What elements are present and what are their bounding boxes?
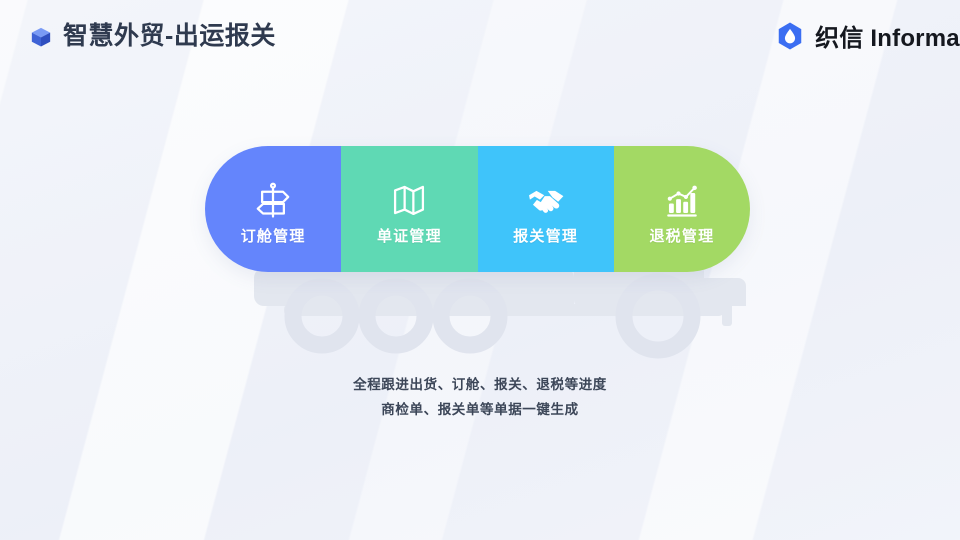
cube-icon	[30, 26, 52, 48]
signpost-icon	[252, 180, 294, 220]
card-label: 报关管理	[513, 229, 578, 244]
caption-line-1: 全程跟进出货、订舱、报关、退税等进度	[0, 372, 960, 397]
caption-line-2: 商检单、报关单等单据一键生成	[0, 397, 960, 422]
card-label: 退税管理	[649, 229, 714, 244]
handshake-icon	[525, 180, 567, 220]
brand-group: 织信 Informat	[775, 18, 960, 53]
hexagon-drop-logo-icon	[775, 21, 805, 51]
page-title: 智慧外贸-出运报关	[63, 24, 276, 49]
card-label: 订舱管理	[241, 229, 306, 244]
card-tax-refund-management[interactable]: 退税管理	[614, 146, 750, 272]
caption-block: 全程跟进出货、订舱、报关、退税等进度 商检单、报关单等单据一键生成	[0, 372, 960, 422]
card-customs-management[interactable]: 报关管理	[478, 146, 614, 272]
card-booking-management[interactable]: 订舱管理	[205, 146, 341, 272]
title-group: 智慧外贸-出运报关	[30, 24, 276, 49]
card-document-management[interactable]: 单证管理	[341, 146, 477, 272]
module-card-band: 订舱管理 单证管理 报关管理	[205, 146, 750, 272]
folded-map-icon	[388, 180, 430, 220]
bar-chart-trend-icon	[661, 180, 703, 220]
slide-header: 智慧外贸-出运报关 织信 Informat	[0, 0, 960, 76]
brand-name: 织信 Informat	[815, 18, 960, 53]
slide-root: 智慧外贸-出运报关 织信 Informat 订舱管理	[0, 0, 960, 540]
card-label: 单证管理	[377, 229, 442, 244]
